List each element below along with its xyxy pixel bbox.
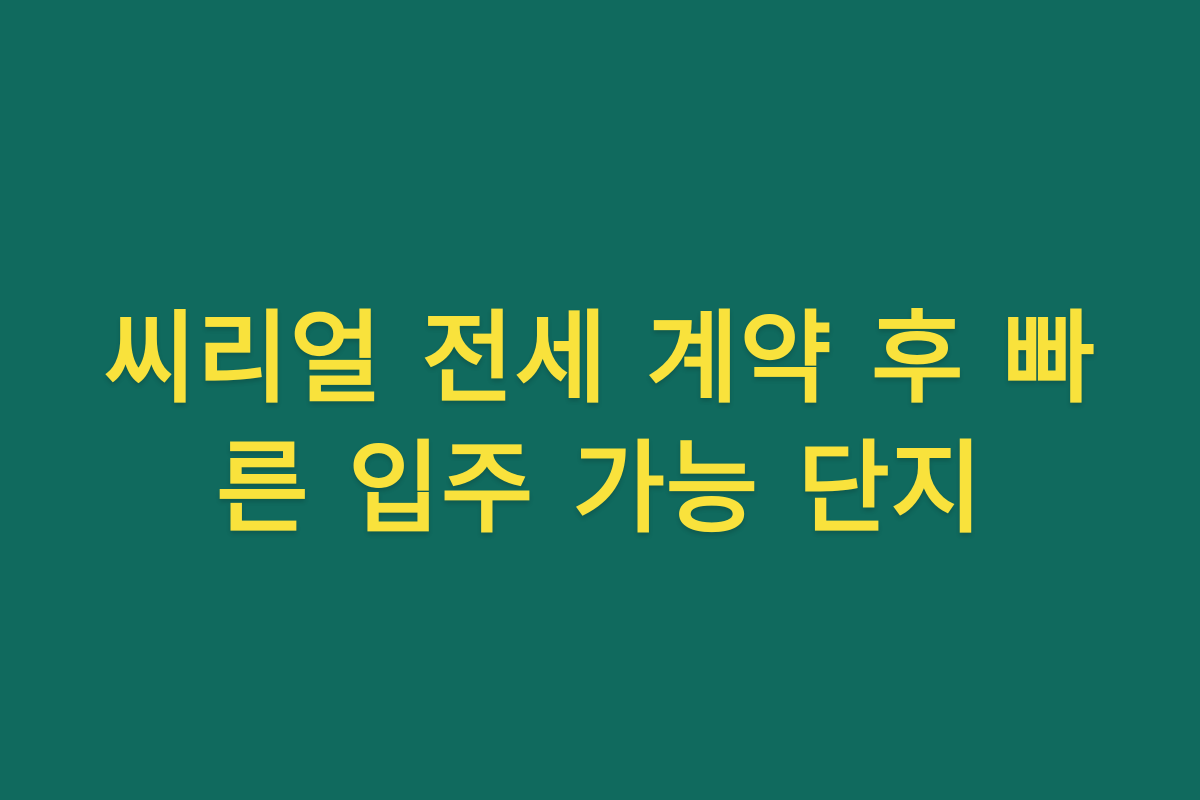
headline-block: 씨리얼 전세 계약 후 빠 른 입주 가능 단지 bbox=[0, 293, 1200, 555]
headline-line-1: 씨리얼 전세 계약 후 빠 bbox=[96, 293, 1104, 425]
banner-canvas: 씨리얼 전세 계약 후 빠 른 입주 가능 단지 bbox=[0, 0, 1200, 800]
headline-line-2: 른 입주 가능 단지 bbox=[96, 423, 1104, 555]
